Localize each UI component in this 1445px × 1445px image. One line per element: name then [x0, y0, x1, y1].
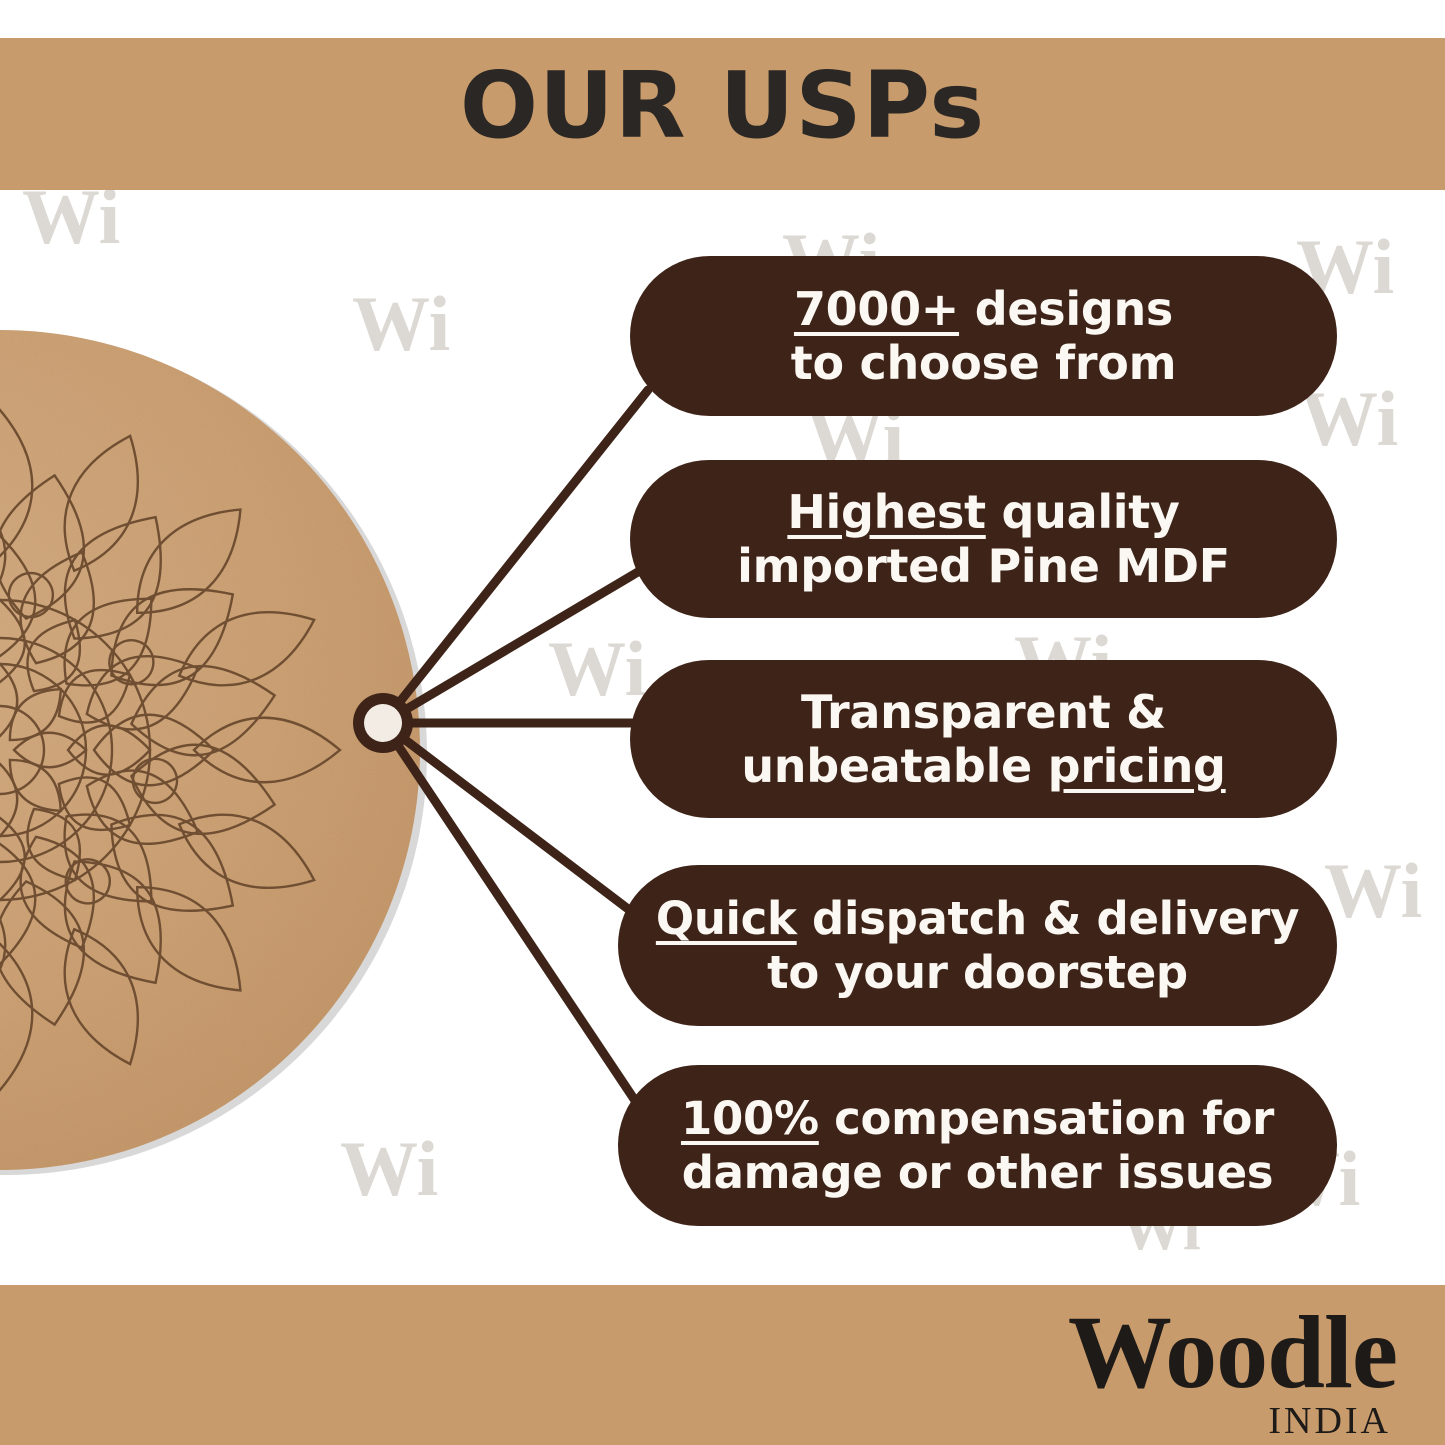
usp-underline-7000plus: 7000+ — [794, 282, 959, 336]
usp-underline-highest: Highest — [787, 485, 985, 539]
usp-pill-compensation-text: 100% compensation fordamage or other iss… — [681, 1092, 1274, 1198]
page-title: OUR USPs — [0, 60, 1445, 152]
usp-pill-dispatch[interactable]: Quick dispatch & deliveryto your doorste… — [618, 865, 1337, 1026]
usp-underline-quick: Quick — [656, 892, 797, 945]
watermark-wi: Wi — [1300, 380, 1398, 458]
usp-underline-pricing: pricing — [1048, 739, 1226, 793]
usp-pill-pricing[interactable]: Transparent &unbeatable pricing — [630, 660, 1337, 818]
usp-pill-dispatch-text: Quick dispatch & deliveryto your doorste… — [656, 892, 1299, 998]
usp-pill-compensation[interactable]: 100% compensation fordamage or other iss… — [618, 1065, 1337, 1226]
brand-name: Woodle — [1068, 1300, 1397, 1406]
watermark-wi: Wi — [548, 630, 646, 708]
mandala-mdf-disc — [0, 300, 440, 1200]
infographic-canvas: Wi Wi Wi Wi Wi Wi Wi Wi Wi Wi Wi Wi — [0, 0, 1445, 1445]
usp-pill-pricing-text: Transparent &unbeatable pricing — [741, 685, 1225, 794]
usp-pill-designs-text: 7000+ designsto choose from — [791, 282, 1176, 391]
usp-pill-quality-text: Highest qualityimported Pine MDF — [737, 485, 1230, 594]
usp-pill-quality[interactable]: Highest qualityimported Pine MDF — [630, 460, 1337, 618]
watermark-wi: Wi — [1324, 852, 1422, 930]
brand-logo: Woodle INDIA — [1068, 1300, 1397, 1440]
usp-pill-designs[interactable]: 7000+ designsto choose from — [630, 256, 1337, 416]
usp-underline-100percent: 100% — [681, 1092, 819, 1145]
